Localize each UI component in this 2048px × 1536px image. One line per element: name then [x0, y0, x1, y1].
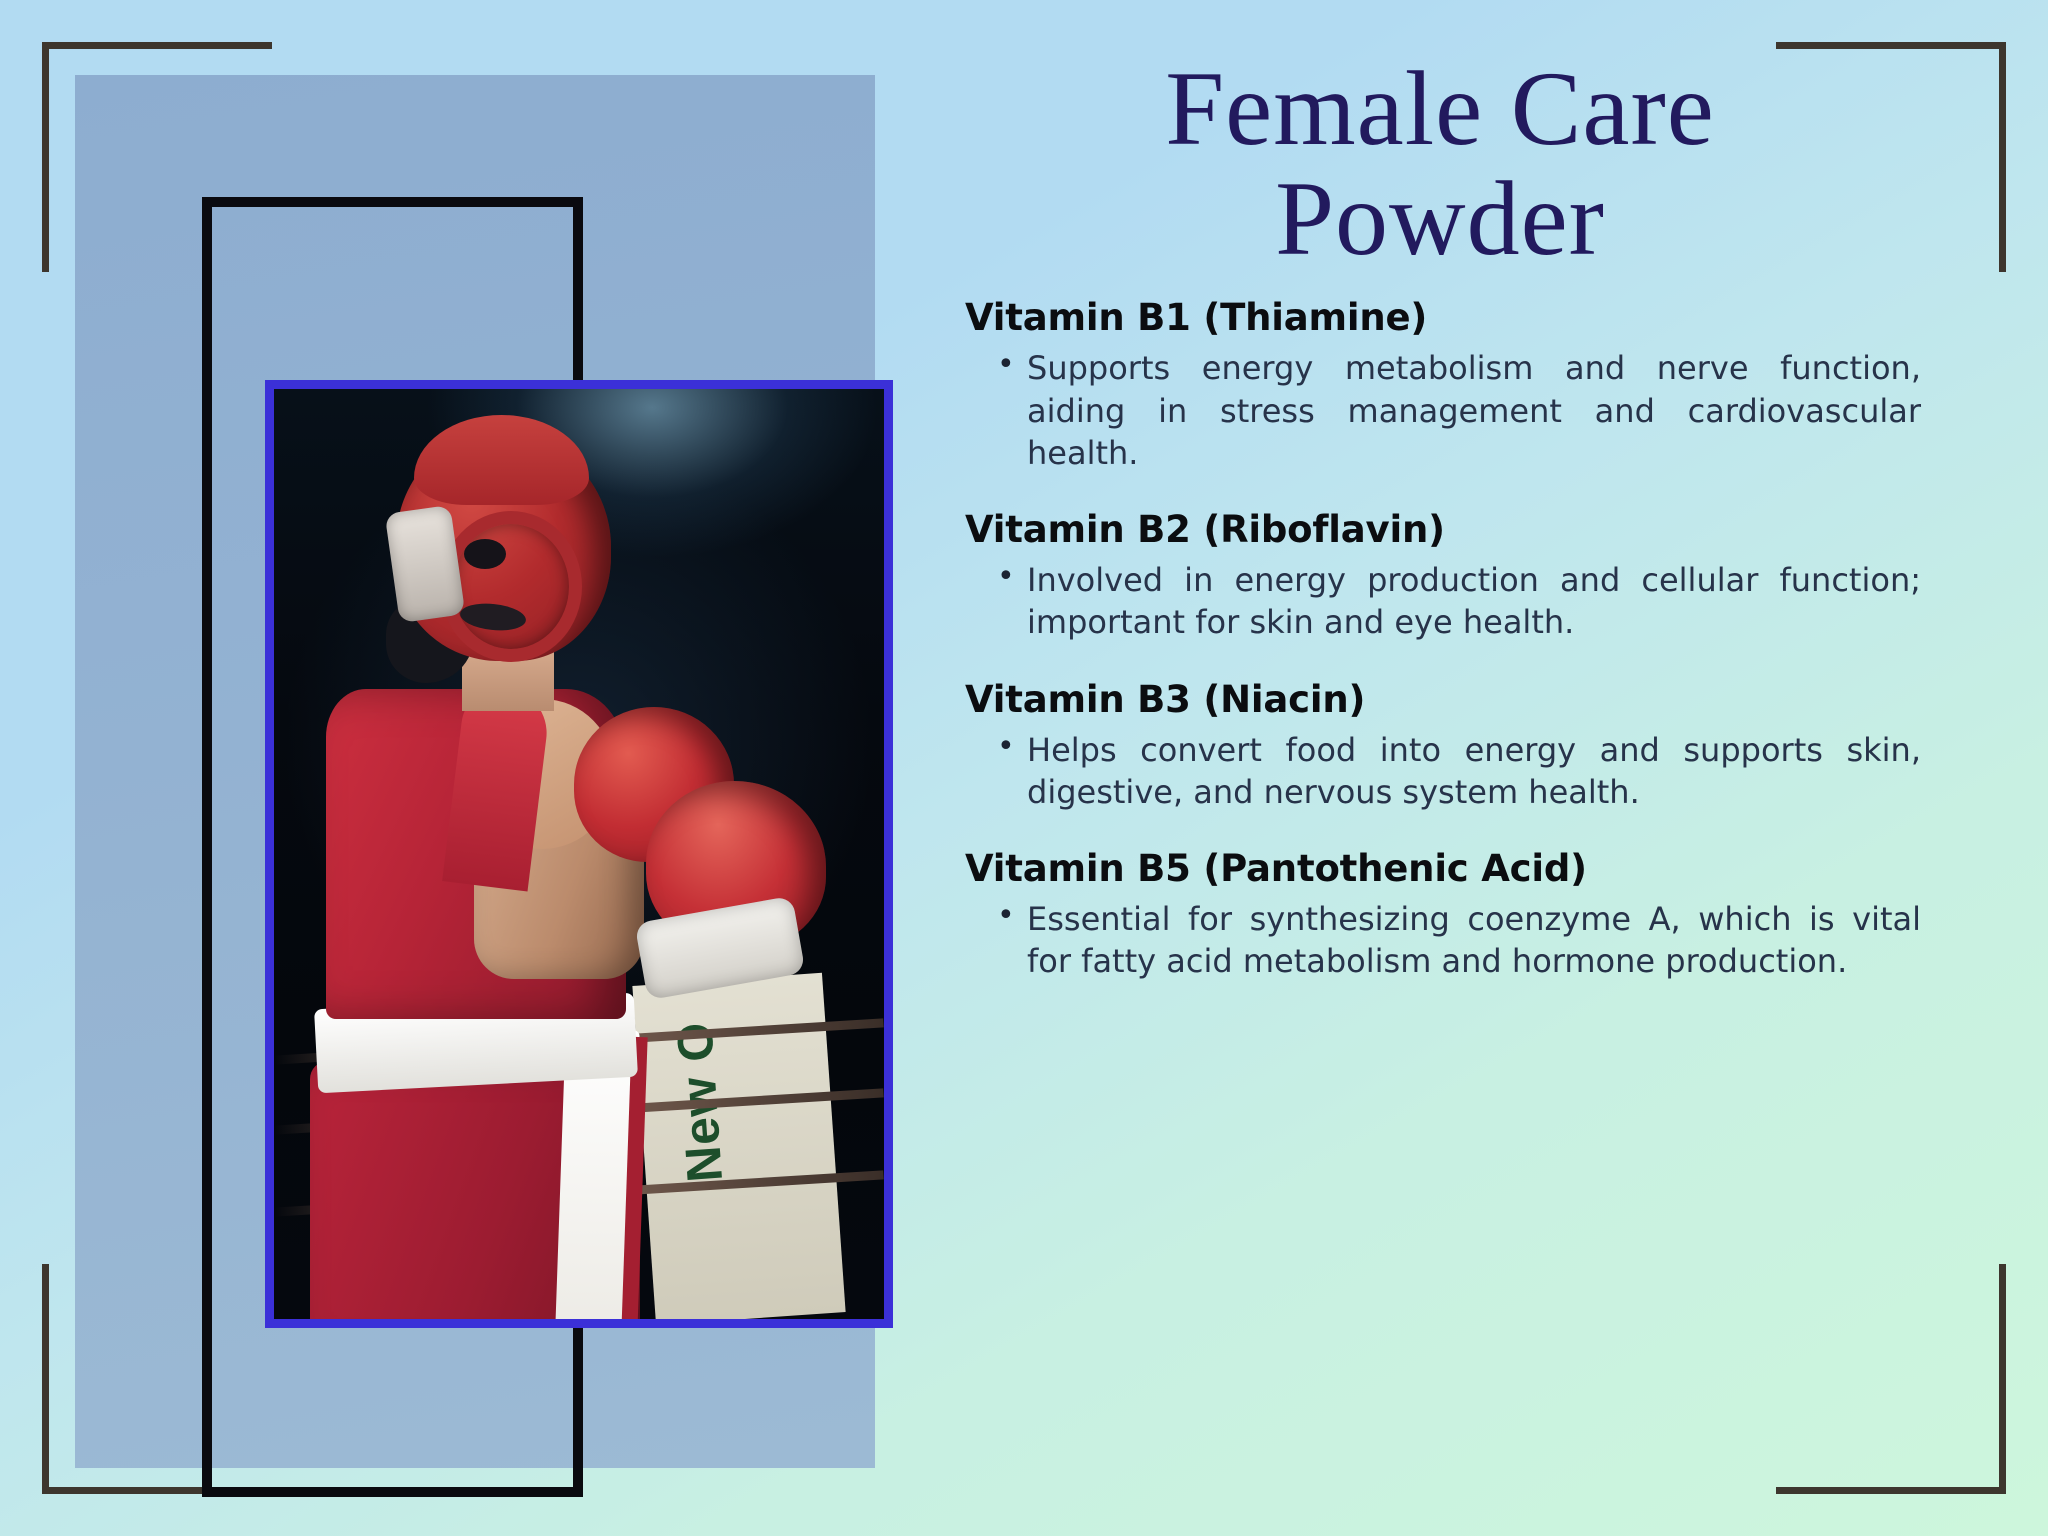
- headgear-eye-shadow: [464, 539, 506, 569]
- section-vitamin-b3: Vitamin B3 (Niacin) Helps convert food i…: [955, 678, 1925, 813]
- section-heading: Vitamin B1 (Thiamine): [955, 296, 1925, 339]
- section-bullet-list: Supports energy metabolism and nerve fun…: [955, 347, 1925, 474]
- section-bullet-list: Helps convert food into energy and suppo…: [955, 729, 1925, 813]
- boxing-headgear-top: [414, 415, 589, 505]
- left-image-panel: New O: [75, 75, 875, 1468]
- section-vitamin-b2: Vitamin B2 (Riboflavin) Involved in ener…: [955, 508, 1925, 643]
- section-vitamin-b5: Vitamin B5 (Pantothenic Acid) Essential …: [955, 847, 1925, 982]
- section-vitamin-b1: Vitamin B1 (Thiamine) Supports energy me…: [955, 296, 1925, 474]
- section-bullet-list: Involved in energy production and cellul…: [955, 559, 1925, 643]
- list-item: Essential for synthesizing coenzyme A, w…: [1027, 898, 1925, 982]
- poster-canvas: New O: [0, 0, 2048, 1536]
- page-title: Female Care Powder: [955, 48, 1925, 274]
- page-title-line-1: Female Care: [1165, 50, 1715, 167]
- section-bullet-list: Essential for synthesizing coenzyme A, w…: [955, 898, 1925, 982]
- section-heading: Vitamin B5 (Pantothenic Acid): [955, 847, 1925, 890]
- list-item: Supports energy metabolism and nerve fun…: [1027, 347, 1925, 474]
- list-item: Involved in energy production and cellul…: [1027, 559, 1925, 643]
- list-item: Helps convert food into energy and suppo…: [1027, 729, 1925, 813]
- page-title-line-2: Powder: [1275, 160, 1605, 277]
- boxer-photo-frame: New O: [265, 380, 893, 1328]
- section-heading: Vitamin B2 (Riboflavin): [955, 508, 1925, 551]
- section-heading: Vitamin B3 (Niacin): [955, 678, 1925, 721]
- content-column: Female Care Powder Vitamin B1 (Thiamine)…: [955, 48, 1925, 1498]
- boxer-photo: New O: [274, 389, 884, 1319]
- boxer-figure: [274, 389, 884, 1319]
